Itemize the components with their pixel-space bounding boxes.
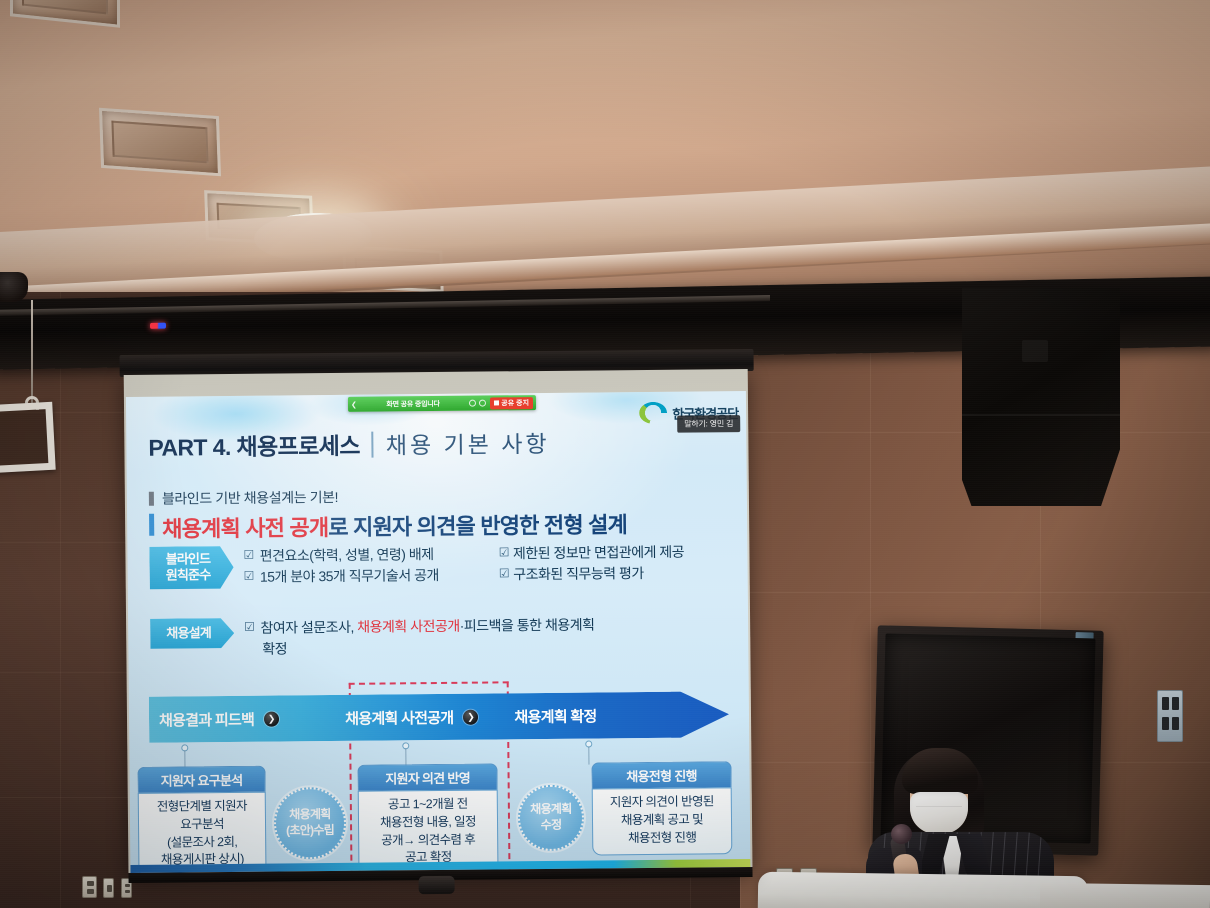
bullet-left: 15개 분야 35개 직무기술서 공개 [260, 564, 495, 587]
wall-control-plate[interactable] [1157, 690, 1183, 742]
indicator-led [150, 323, 166, 329]
process-stage-3: 채용계획 확정 [514, 705, 596, 727]
slide-headline: 블라인드 기반 채용설계는 기본! 채용계획 사전 공개로 지원자 의견을 반영… [149, 483, 726, 544]
process-stage-2: 채용계획 사전공개 [345, 706, 453, 728]
process-box-1-body: 전형단계별 지원자 요구분석 (설문조사 2회, 채용게시판 상시) [138, 792, 267, 873]
headline-large-red: 채용계획 사전 공개 [162, 515, 328, 542]
headline-large: 채용계획 사전 공개로 지원자 의견을 반영한 전형 설계 [162, 507, 627, 543]
wall-outlet[interactable] [103, 878, 114, 898]
process-box-1-title: 지원자 요구분석 [137, 766, 265, 793]
chevron-right-circle-icon: ❯ [264, 711, 279, 726]
bullet-continued-text: 확정 [262, 638, 287, 659]
title-divider [372, 432, 374, 458]
ceiling-speaker [0, 272, 28, 302]
podium-desk [758, 872, 1089, 908]
active-speaker-badge: 말하기: 영민 김 [677, 415, 740, 433]
wall-outlet[interactable] [82, 876, 97, 898]
process-circle-1-line1: 채용계획 [289, 807, 331, 823]
bullet-list-design: ☑ 참여자 설문조사, 채용계획 사전공개·피드백을 통한 채용계획 확정 [244, 613, 726, 660]
stop-share-button[interactable]: 공유 중지 [490, 397, 533, 409]
bullet-pre: 참여자 설문조사, [260, 619, 357, 636]
projection-screen: ❮ 화면 공유 중입니다 공유 중지 PART 4. 채용프로세스 채용 기본 … [124, 349, 753, 875]
process-circle-2: 채용계획 수정 [518, 785, 585, 852]
screen-canvas: ❮ 화면 공유 중입니다 공유 중지 PART 4. 채용프로세스 채용 기본 … [124, 369, 753, 875]
zoom-share-bar[interactable]: ❮ 화면 공유 중입니다 공유 중지 [348, 395, 536, 412]
process-circle-2-line2: 수정 [541, 818, 562, 834]
checkbox-icon: ☑ [244, 618, 254, 638]
bullet-right: 제한된 정보만 면접관에게 제공 [513, 542, 684, 565]
process-box-2-body: 공고 1~2개월 전 채용전형 내용, 일정 공개→ 의견수렴 후 공고 확정 [358, 789, 499, 873]
process-box-3: 채용전형 진행 지원자 의견이 반영된 채용계획 공고 및 채용전형 진행 [591, 761, 732, 856]
ceiling-vent [99, 108, 221, 177]
checkbox-icon: ☑ [244, 567, 254, 587]
row-tag-blind-line2: 원칙준수 [159, 567, 218, 584]
row-tag-design-line1: 채용설계 [159, 625, 218, 642]
process-arrow: 채용결과 피드백 ❯ 채용계획 사전공개 ❯ 채용계획 확정 [149, 691, 729, 743]
screen-pull-knob[interactable] [419, 876, 455, 894]
annotate-icon[interactable] [479, 400, 486, 407]
share-status-text: 화면 공유 중입니다 [360, 398, 466, 409]
chevron-left-icon[interactable]: ❮ [351, 400, 357, 408]
stop-square-icon [494, 400, 499, 405]
bullet-post: ·피드백을 통한 채용계획 [460, 616, 595, 633]
bullet-left: 편견요소(학력, 성별, 연령) 배제 [260, 543, 495, 566]
chevron-right-circle-icon: ❯ [463, 709, 478, 724]
pause-circle-icon[interactable] [469, 400, 476, 407]
checkbox-icon: ☑ [499, 564, 509, 585]
ceiling-vent [10, 0, 120, 28]
headline-marker-large [149, 514, 154, 536]
slide-title-row: PART 4. 채용프로세스 채용 기본 사항 [148, 417, 718, 462]
wall-mounted-speaker [962, 288, 1120, 506]
projected-slide: ❮ 화면 공유 중입니다 공유 중지 PART 4. 채용프로세스 채용 기본 … [126, 391, 751, 873]
stop-share-label: 공유 중지 [501, 398, 529, 408]
bullet-right: 구조화된 직무능력 평가 [513, 563, 644, 585]
checkbox-icon: ☑ [243, 546, 253, 566]
podium-desk-right [1040, 883, 1210, 908]
hanging-wire [31, 300, 33, 408]
swoosh-logo-icon [639, 402, 667, 424]
row-tag-blind-line1: 블라인드 [158, 551, 217, 568]
hanging-frame-bracket [0, 402, 56, 475]
content-row-blind: 블라인드 원칙준수 ☑ 편견요소(학력, 성별, 연령) 배제 ☑ 제한된 정보… [149, 541, 725, 589]
process-box-3-body: 지원자 의견이 반영된 채용계획 공고 및 채용전형 진행 [592, 787, 733, 856]
process-arrow-stages: 채용결과 피드백 ❯ 채용계획 사전공개 ❯ 채용계획 확정 [149, 691, 729, 743]
process-box-2: 지원자 의견 반영 공고 1~2개월 전 채용전형 내용, 일정 공개→ 의견수… [357, 763, 498, 873]
process-box-1: 지원자 요구분석 전형단계별 지원자 요구분석 (설문조사 2회, 채용게시판 … [137, 766, 266, 873]
process-box-3-title: 채용전형 진행 [591, 761, 731, 788]
process-circle-1-line2: (초안)수립 [286, 823, 334, 839]
bullet-red: 채용계획 사전공개 [357, 618, 460, 635]
bullet-item: ☑ 15개 분야 35개 직무기술서 공개 ☑ 구조화된 직무능력 평가 [244, 562, 726, 588]
row-tag-design: 채용설계 [150, 618, 234, 649]
bullet-list-blind: ☑ 편견요소(학력, 성별, 연령) 배제 ☑ 제한된 정보만 면접관에게 제공… [243, 541, 725, 588]
photo-scene: ❮ 화면 공유 중입니다 공유 중지 PART 4. 채용프로세스 채용 기본 … [0, 0, 1210, 908]
page-title: PART 4. 채용프로세스 [148, 427, 360, 463]
headline-marker-small [149, 492, 154, 506]
connector-line [588, 747, 589, 765]
process-box-2-title: 지원자 의견 반영 [357, 763, 497, 790]
slide-subtitle: 채용 기본 사항 [386, 425, 550, 461]
hair-front [902, 748, 978, 794]
process-circle-1: 채용계획 (초안)수립 [274, 787, 347, 860]
headline-small: 블라인드 기반 채용설계는 기본! [162, 487, 338, 509]
headline-large-rest: 로 지원자 의견을 반영한 전형 설계 [328, 512, 627, 540]
content-row-design: 채용설계 ☑ 참여자 설문조사, 채용계획 사전공개·피드백을 통한 채용계획 [150, 613, 726, 661]
process-circle-2-line1: 채용계획 [530, 802, 572, 818]
process-stage-1: 채용결과 피드백 [159, 708, 254, 730]
checkbox-icon: ☑ [499, 543, 509, 564]
row-tag-blind: 블라인드 원칙준수 [149, 546, 233, 589]
